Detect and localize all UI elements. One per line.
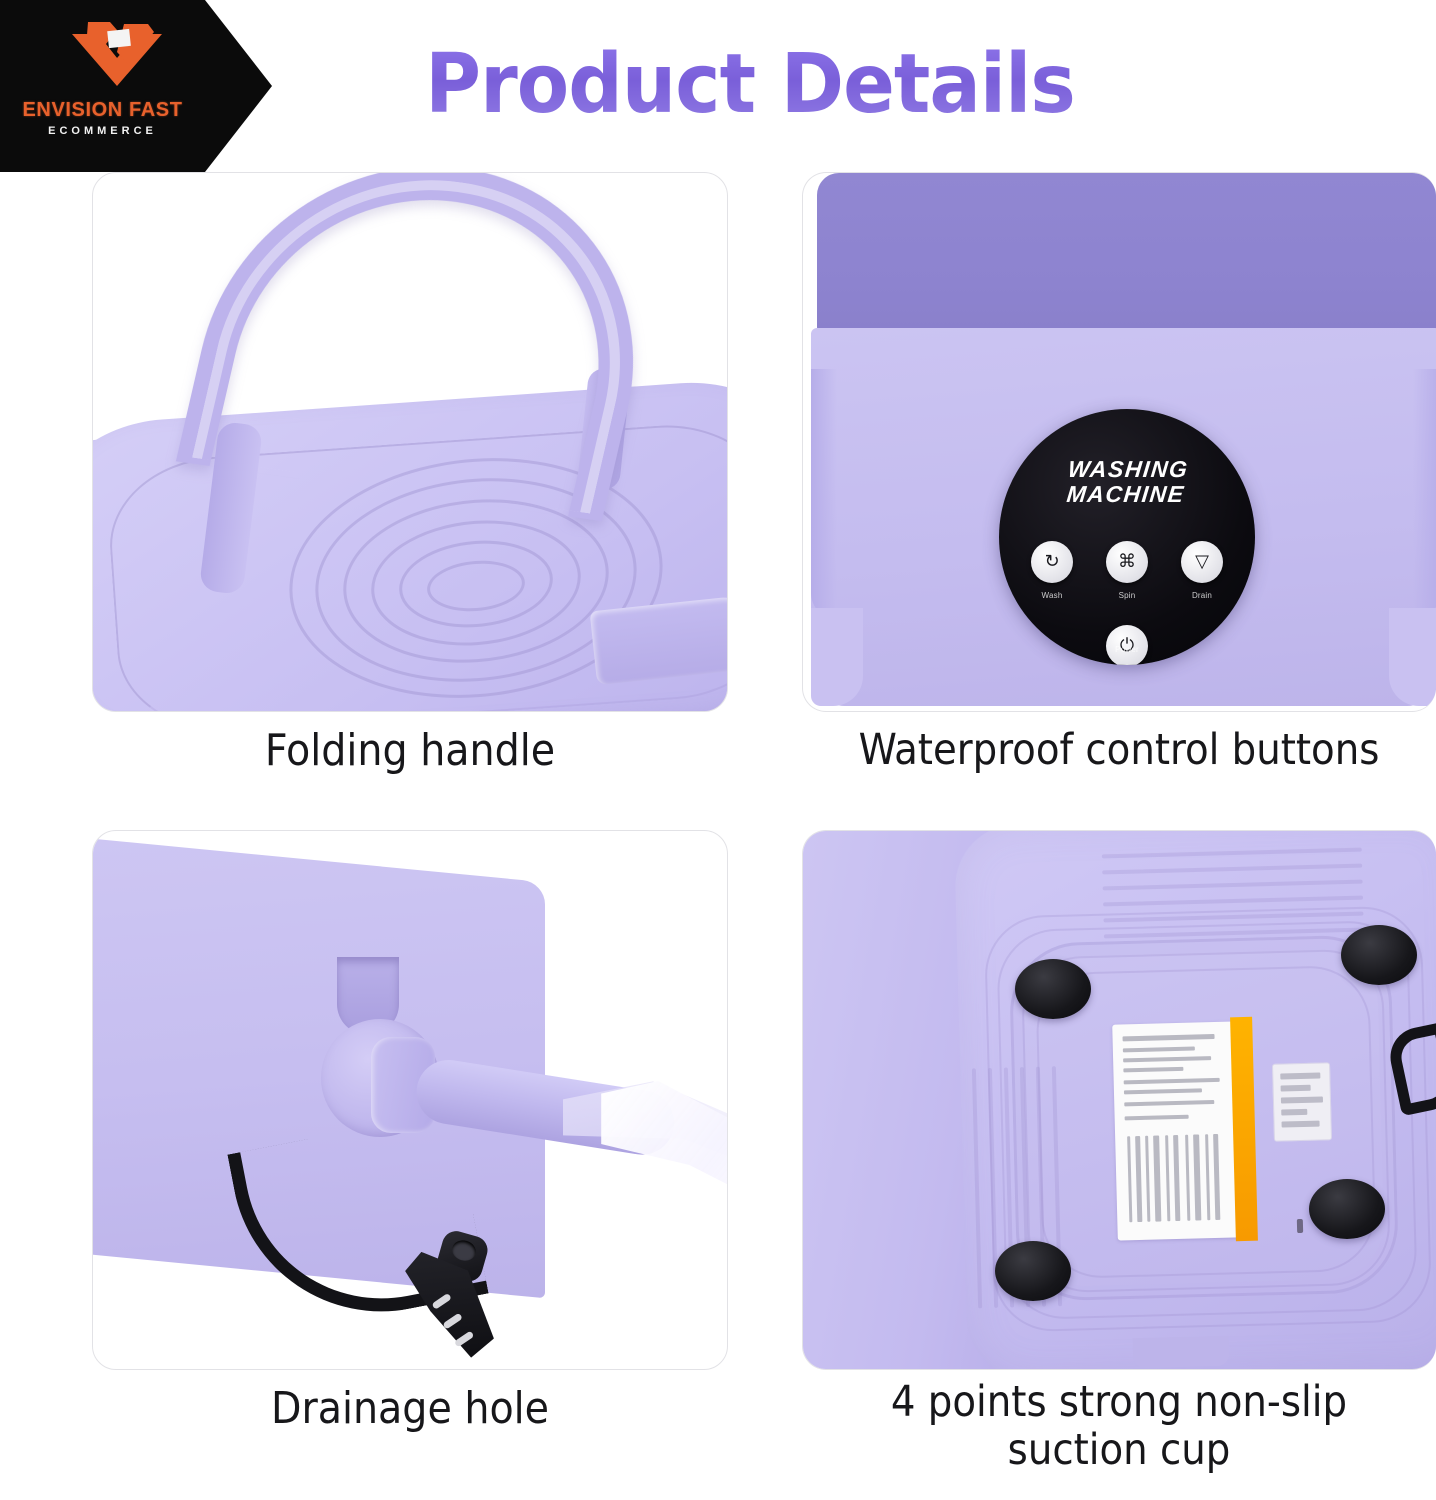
photo-drainage-hole bbox=[92, 830, 728, 1370]
caption-suction-cup-line1: 4 points strong non-slip bbox=[891, 1377, 1347, 1427]
dial-brand-text: WASHING MACHINE bbox=[999, 457, 1255, 507]
suction-cup bbox=[1015, 959, 1091, 1019]
panel-suction-cup: 4 points strong non-slip suction cup bbox=[802, 830, 1436, 1370]
machine-foot-right bbox=[1389, 608, 1436, 706]
clip-body bbox=[387, 1249, 511, 1362]
chevron-logo-icon bbox=[62, 18, 172, 96]
caption-suction-cup: 4 points strong non-slip suction cup bbox=[802, 1378, 1436, 1474]
drain-icon: ▽ bbox=[1195, 553, 1209, 571]
reset-pinhole bbox=[1297, 1219, 1303, 1233]
suction-cup bbox=[995, 1241, 1071, 1301]
wash-button[interactable]: ↻ bbox=[1031, 541, 1073, 583]
machine-lid bbox=[817, 173, 1436, 333]
wash-button-label: Wash bbox=[1009, 591, 1095, 600]
drain-button[interactable]: ▽ bbox=[1181, 541, 1223, 583]
caption-drainage-hole: Drainage hole bbox=[92, 1384, 728, 1433]
panel-folding-handle: Folding handle bbox=[92, 172, 728, 712]
panel-control-buttons: WASHING MACHINE ↻ ⌘ ▽ ⏻ bbox=[802, 172, 1436, 712]
machine-foot-left bbox=[811, 608, 863, 706]
handle-highlight bbox=[192, 172, 660, 514]
water-stream bbox=[601, 1081, 728, 1291]
brand-tagline: ECOMMERCE bbox=[0, 126, 205, 137]
rating-label bbox=[1112, 1021, 1242, 1240]
wash-icon: ↻ bbox=[1044, 553, 1059, 571]
dial-title-line1: WASHING bbox=[1067, 456, 1190, 482]
body-shade-right bbox=[1413, 369, 1436, 619]
caption-folding-handle: Folding handle bbox=[92, 726, 728, 775]
photo-folding-handle bbox=[92, 172, 728, 712]
base-tab bbox=[1133, 1336, 1230, 1369]
caption-suction-cup-line2: suction cup bbox=[1008, 1425, 1231, 1475]
suction-cup bbox=[1341, 925, 1417, 985]
photo-suction-cup bbox=[802, 830, 1436, 1370]
suction-cup bbox=[1309, 1179, 1385, 1239]
control-dial: WASHING MACHINE ↻ ⌘ ▽ ⏻ bbox=[999, 409, 1255, 665]
caption-control-buttons: Waterproof control buttons bbox=[802, 726, 1436, 774]
body-shade-left bbox=[811, 369, 837, 619]
certification-sticker bbox=[1272, 1062, 1332, 1141]
page-title: Product Details bbox=[332, 44, 1169, 126]
spin-icon: ⌘ bbox=[1118, 553, 1136, 571]
brand-logo-badge: ENVISION FAST ECOMMERCE bbox=[0, 0, 272, 172]
photo-control-buttons: WASHING MACHINE ↻ ⌘ ▽ ⏻ bbox=[802, 172, 1436, 712]
drain-button-label: Drain bbox=[1159, 591, 1245, 600]
panel-drainage-hole: Drainage hole bbox=[92, 830, 728, 1370]
brand-name: ENVISION FAST bbox=[0, 100, 205, 120]
spin-button-label: Spin bbox=[1084, 591, 1170, 600]
lid-notch bbox=[590, 595, 728, 685]
spin-button[interactable]: ⌘ bbox=[1106, 541, 1148, 583]
base-horizontal-ribs bbox=[1102, 848, 1364, 951]
product-detail-grid: Folding handle WASHING MACHINE ↻ bbox=[0, 172, 1436, 1500]
dial-title-line2: MACHINE bbox=[1065, 481, 1186, 507]
power-button-label: Power bbox=[1084, 645, 1170, 654]
